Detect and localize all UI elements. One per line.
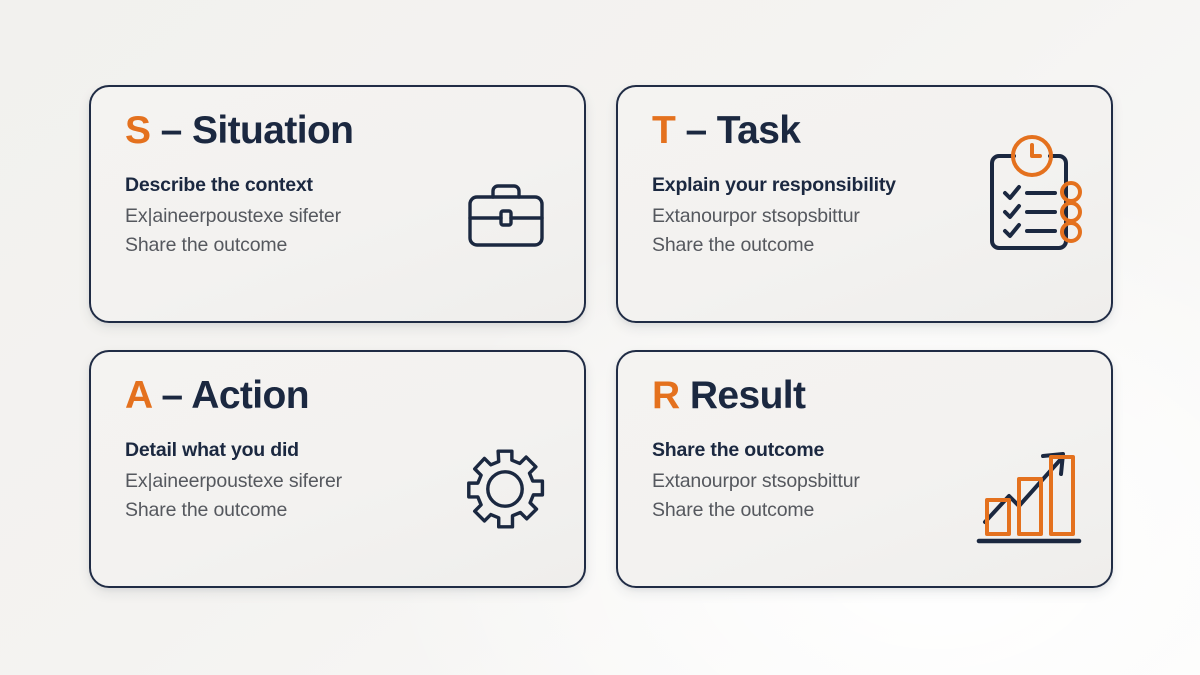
card-body-result: Share the outcome Extanourpor stsopsbitt… [652,438,1085,563]
card-task[interactable]: T – Task Explain your responsibility Ext… [616,85,1113,323]
card-line2-situation: Share the outcome [125,231,341,260]
card-result[interactable]: R Result Share the outcome Extanourpor s… [616,350,1113,588]
card-line2-task: Share the outcome [652,231,896,260]
card-headline-result: Share the outcome [652,438,860,463]
card-line2-result: Share the outcome [652,496,860,525]
card-headline-situation: Describe the context [125,173,341,198]
text-block-action: Detail what you did Ex|aineerpoustexe si… [125,438,342,525]
card-situation[interactable]: S – Situation Describe the context Ex|ai… [89,85,586,323]
card-line2-action: Share the outcome [125,496,342,525]
gear-icon [462,444,548,532]
card-letter-a: A [125,374,151,417]
card-dash-result [680,374,690,417]
text-block-result: Share the outcome Extanourpor stsopsbitt… [652,438,860,525]
card-headline-action: Detail what you did [125,438,342,463]
text-block-task: Explain your responsibility Extanourpor … [652,173,896,260]
card-word-action: Action [191,374,309,417]
card-body-task: Explain your responsibility Extanourpor … [652,173,1085,298]
card-line1-situation: Ex|aineerpoustexe sifeter [125,202,341,231]
card-line1-task: Extanourpor stsopsbittur [652,202,896,231]
card-dash-action: – [151,374,191,417]
card-dash-task: – [675,109,717,152]
star-method-card-grid: S – Situation Describe the context Ex|ai… [0,0,1200,675]
card-word-situation: Situation [192,109,353,152]
card-title-situation: S – Situation [125,111,558,152]
growth-bar-chart-arrow-icon [973,422,1085,548]
text-block-situation: Describe the context Ex|aineerpoustexe s… [125,173,341,260]
clipboard-checklist-clock-icon [981,129,1089,267]
card-word-result: Result [690,374,806,417]
card-headline-task: Explain your responsibility [652,173,896,198]
card-title-result: R Result [652,376,1085,417]
briefcase-icon [462,177,550,255]
card-letter-r: R [652,374,680,417]
card-line1-action: Ex|aineerpoustexe siferer [125,467,342,496]
card-body-action: Detail what you did Ex|aineerpoustexe si… [125,438,558,563]
card-line1-result: Extanourpor stsopsbittur [652,467,860,496]
card-letter-t: T [652,109,675,152]
card-title-action: A – Action [125,376,558,417]
card-action[interactable]: A – Action Detail what you did Ex|aineer… [89,350,586,588]
card-body-situation: Describe the context Ex|aineerpoustexe s… [125,173,558,298]
card-word-task: Task [717,109,801,152]
card-dash-situation: – [150,109,192,152]
card-letter-s: S [125,109,150,152]
